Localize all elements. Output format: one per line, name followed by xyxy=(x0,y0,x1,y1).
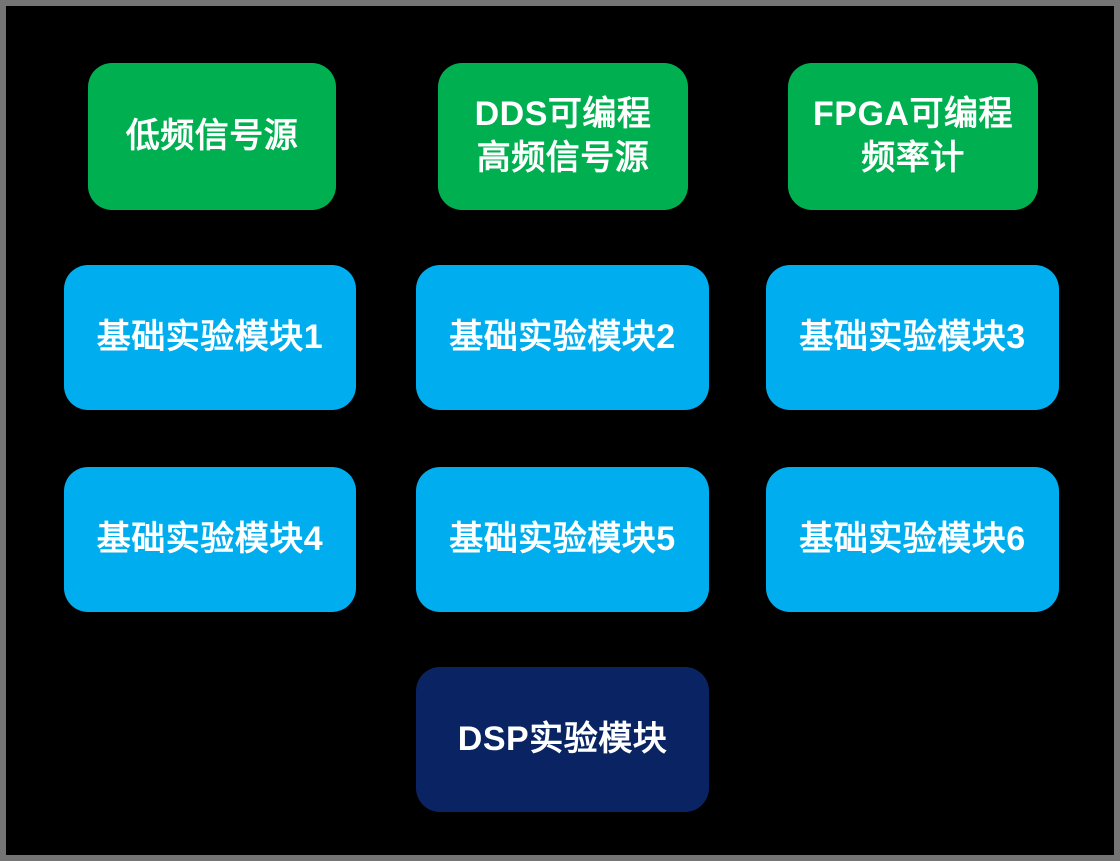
node-label: DDS可编程 高频信号源 xyxy=(475,93,652,180)
node-label: 基础实验模块4 xyxy=(97,518,323,562)
node-basic-module-1[interactable]: 基础实验模块1 xyxy=(64,265,356,410)
node-basic-module-4[interactable]: 基础实验模块4 xyxy=(64,467,356,612)
node-basic-module-6[interactable]: 基础实验模块6 xyxy=(766,467,1059,612)
node-dds-high-freq-source[interactable]: DDS可编程 高频信号源 xyxy=(438,63,688,210)
node-label: 低频信号源 xyxy=(126,115,299,159)
node-label: 基础实验模块5 xyxy=(449,518,675,562)
node-basic-module-3[interactable]: 基础实验模块3 xyxy=(766,265,1059,410)
node-dsp-experiment-module[interactable]: DSP实验模块 xyxy=(416,667,709,812)
diagram-canvas: 低频信号源 DDS可编程 高频信号源 FPGA可编程 频率计 基础实验模块1 基… xyxy=(6,6,1114,855)
node-label: 基础实验模块6 xyxy=(799,518,1025,562)
node-label: FPGA可编程 频率计 xyxy=(813,93,1013,180)
node-basic-module-2[interactable]: 基础实验模块2 xyxy=(416,265,709,410)
node-low-freq-signal-source[interactable]: 低频信号源 xyxy=(88,63,336,210)
diagram-screen: 低频信号源 DDS可编程 高频信号源 FPGA可编程 频率计 基础实验模块1 基… xyxy=(0,0,1120,861)
node-label: 基础实验模块2 xyxy=(449,316,675,360)
node-basic-module-5[interactable]: 基础实验模块5 xyxy=(416,467,709,612)
node-fpga-frequency-counter[interactable]: FPGA可编程 频率计 xyxy=(788,63,1038,210)
node-label: 基础实验模块1 xyxy=(97,316,323,360)
node-label: 基础实验模块3 xyxy=(799,316,1025,360)
node-label: DSP实验模块 xyxy=(458,718,667,762)
